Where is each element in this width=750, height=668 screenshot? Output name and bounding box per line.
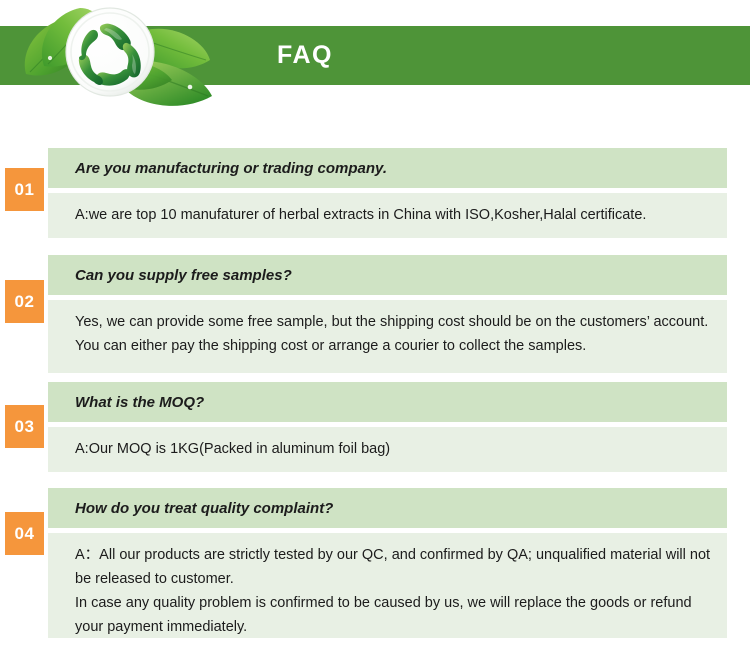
page-header: FAQ (0, 0, 750, 120)
faq-answer-line: Yes, we can provide some free sample, bu… (75, 311, 713, 359)
leaf-recycle-logo-icon (14, 0, 229, 115)
faq-question[interactable]: How do you treat quality complaint? (48, 488, 727, 528)
faq-number-badge: 01 (5, 168, 44, 211)
faq-number-badge: 03 (5, 405, 44, 448)
faq-answer-line: In case any quality problem is confirmed… (75, 592, 713, 640)
faq-answer: A:Our MOQ is 1KG(Packed in aluminum foil… (48, 427, 727, 472)
faq-question[interactable]: Can you supply free samples? (48, 255, 727, 295)
faq-question[interactable]: Are you manufacturing or trading company… (48, 148, 727, 188)
faq-number-badge: 04 (5, 512, 44, 555)
faq-number-badge: 02 (5, 280, 44, 323)
faq-answer: A:we are top 10 manufaturer of herbal ex… (48, 193, 727, 238)
faq-answer-line: A:we are top 10 manufaturer of herbal ex… (75, 204, 713, 228)
faq-answer-line: A：All our products are strictly tested b… (75, 544, 713, 592)
faq-answer: A：All our products are strictly tested b… (48, 533, 727, 638)
faq-answer-line: A:Our MOQ is 1KG(Packed in aluminum foil… (75, 438, 713, 462)
page-title: FAQ (235, 26, 375, 85)
faq-question[interactable]: What is the MOQ? (48, 382, 727, 422)
faq-answer: Yes, we can provide some free sample, bu… (48, 300, 727, 373)
